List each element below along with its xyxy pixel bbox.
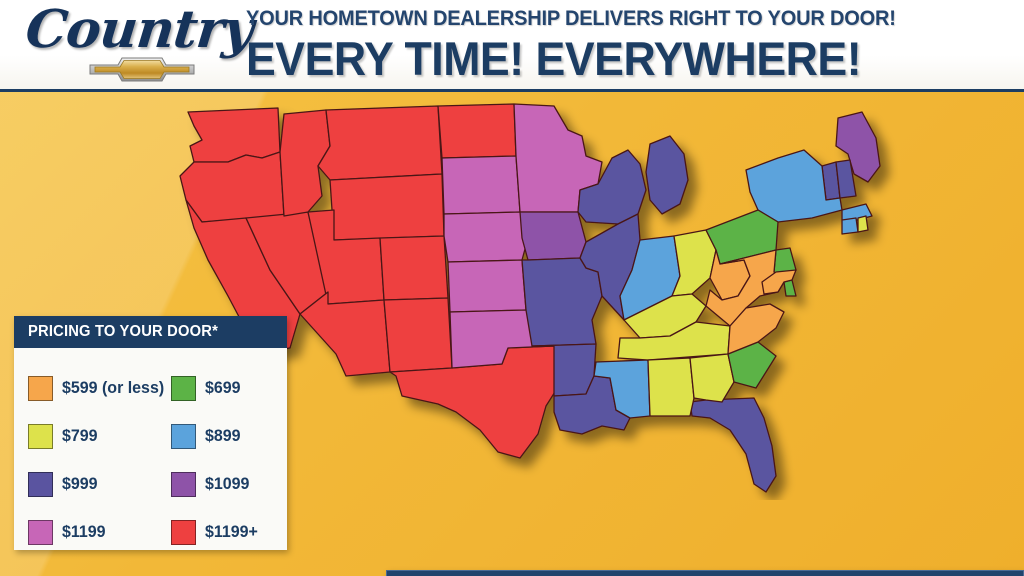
legend-item-999[interactable]: $999 bbox=[28, 472, 171, 497]
state-DE bbox=[784, 280, 796, 296]
color-swatch-1099 bbox=[171, 472, 196, 497]
country-wordmark: Country bbox=[23, 2, 239, 58]
state-KS bbox=[448, 260, 526, 312]
legend-item-599[interactable]: $599 (or less) bbox=[28, 376, 171, 401]
color-swatch-1199-plus bbox=[171, 520, 196, 545]
state-ND bbox=[438, 104, 516, 158]
headline-subtitle: YOUR HOMETOWN DEALERSHIP DELIVERS RIGHT … bbox=[246, 6, 897, 31]
legend-title: PRICING TO YOUR DOOR* bbox=[28, 323, 218, 341]
state-MI bbox=[646, 136, 688, 214]
state-OR bbox=[180, 152, 284, 222]
state-NE bbox=[444, 212, 528, 262]
legend-label-599: $599 (or less) bbox=[62, 378, 164, 398]
header-banner: Country bbox=[0, 0, 1024, 92]
legend-item-899[interactable]: $899 bbox=[171, 424, 277, 449]
state-CO bbox=[380, 236, 448, 300]
legend-label-699: $699 bbox=[205, 378, 241, 398]
map-background: PRICING TO YOUR DOOR* $599 (or less) $69… bbox=[0, 92, 1024, 576]
color-swatch-799 bbox=[28, 424, 53, 449]
headline-title: EVERY TIME! EVERYWHERE! bbox=[246, 33, 911, 85]
state-MT bbox=[318, 106, 442, 180]
legend-item-1199[interactable]: $1199 bbox=[28, 520, 171, 545]
contact-bar: WWWW.COUNTRYCHEVROLET.COM | 540.347.9000… bbox=[386, 570, 1024, 576]
legend-item-1199-plus[interactable]: $1199+ bbox=[171, 520, 277, 545]
state-FL bbox=[690, 398, 776, 492]
chevrolet-bowtie-icon bbox=[88, 54, 196, 84]
state-SD bbox=[442, 156, 520, 214]
legend-label-899: $899 bbox=[205, 426, 241, 446]
state-IA bbox=[520, 212, 586, 260]
state-WA bbox=[188, 108, 280, 162]
legend-label-799: $799 bbox=[62, 426, 98, 446]
country-chevrolet-logo: Country bbox=[26, 2, 236, 90]
legend-label-999: $999 bbox=[62, 474, 98, 494]
state-CT bbox=[842, 218, 858, 234]
state-MO bbox=[522, 258, 602, 346]
state-AL bbox=[648, 358, 694, 416]
state-WY bbox=[330, 174, 444, 240]
legend-items: $599 (or less) $699 $799 $899 $999 bbox=[14, 348, 287, 566]
state-OH bbox=[672, 230, 716, 296]
headline: YOUR HOMETOWN DEALERSHIP DELIVERS RIGHT … bbox=[246, 6, 946, 85]
legend-item-799[interactable]: $799 bbox=[28, 424, 171, 449]
legend-label-1199: $1199 bbox=[62, 522, 106, 542]
legend-header: PRICING TO YOUR DOOR* bbox=[14, 316, 287, 348]
color-swatch-999 bbox=[28, 472, 53, 497]
legend-label-1199-plus: $1199+ bbox=[205, 522, 258, 542]
state-RI bbox=[858, 216, 868, 232]
promo-graphic: Country bbox=[0, 0, 1024, 576]
legend-label-1099: $1099 bbox=[205, 474, 249, 494]
pricing-legend: PRICING TO YOUR DOOR* $599 (or less) $69… bbox=[14, 316, 287, 550]
color-swatch-899 bbox=[171, 424, 196, 449]
legend-item-699[interactable]: $699 bbox=[171, 376, 277, 401]
legend-item-1099[interactable]: $1099 bbox=[171, 472, 277, 497]
color-swatch-699 bbox=[171, 376, 196, 401]
color-swatch-599 bbox=[28, 376, 53, 401]
state-AZ bbox=[300, 292, 390, 376]
state-GA bbox=[690, 354, 734, 402]
state-NM bbox=[384, 298, 452, 372]
color-swatch-1199 bbox=[28, 520, 53, 545]
